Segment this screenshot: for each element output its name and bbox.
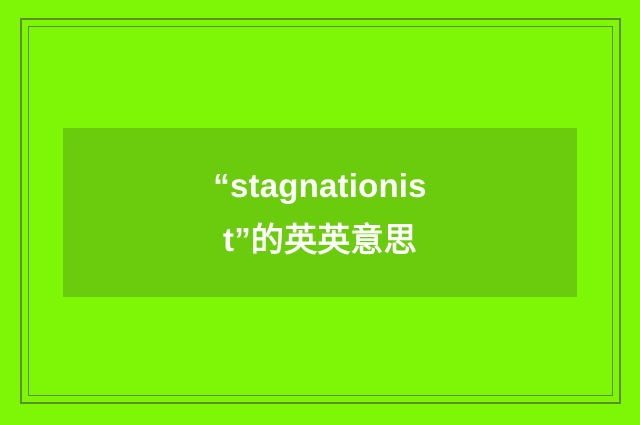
image-canvas: “stagnationist”的英英意思 — [0, 0, 640, 425]
page-title: “stagnationist”的英英意思 — [195, 159, 445, 267]
title-panel: “stagnationist”的英英意思 — [63, 128, 577, 297]
